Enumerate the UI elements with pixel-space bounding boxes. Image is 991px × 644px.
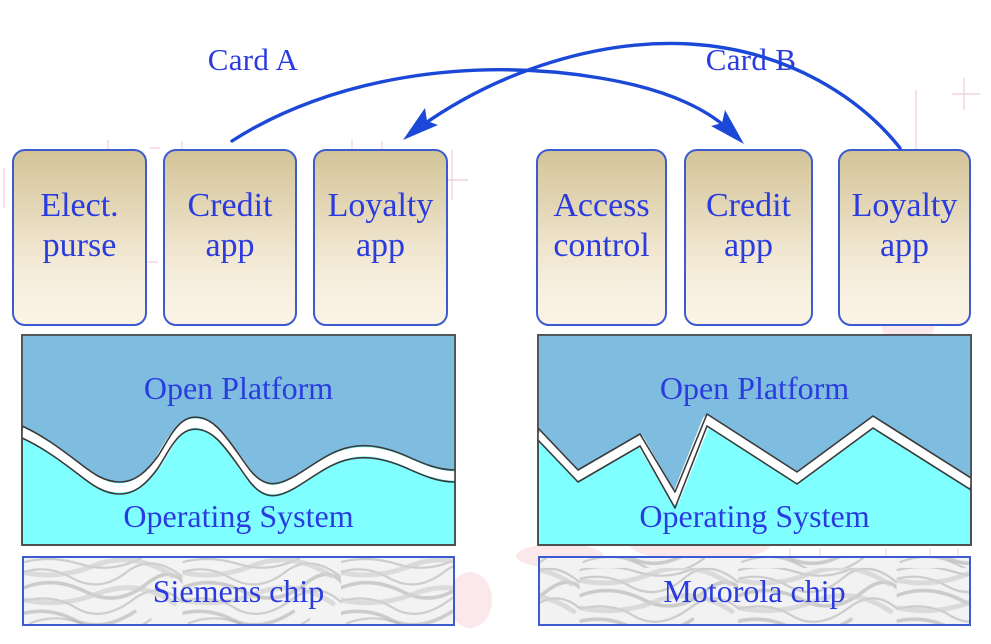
card-b-chip-label: Motorola chip (663, 573, 845, 610)
diagram-canvas: Card A Card B Elect. purse Credit app Lo… (0, 0, 991, 644)
card-a-chip-label: Siemens chip (153, 573, 325, 610)
card-a-chip-block[interactable]: Siemens chip (22, 556, 455, 626)
interoperability-arrows (0, 0, 991, 644)
arrow-card-b-to-card-a-credit (403, 43, 900, 148)
arrow-card-a-to-card-b-credit (232, 70, 744, 144)
card-b-chip-block[interactable]: Motorola chip (538, 556, 971, 626)
